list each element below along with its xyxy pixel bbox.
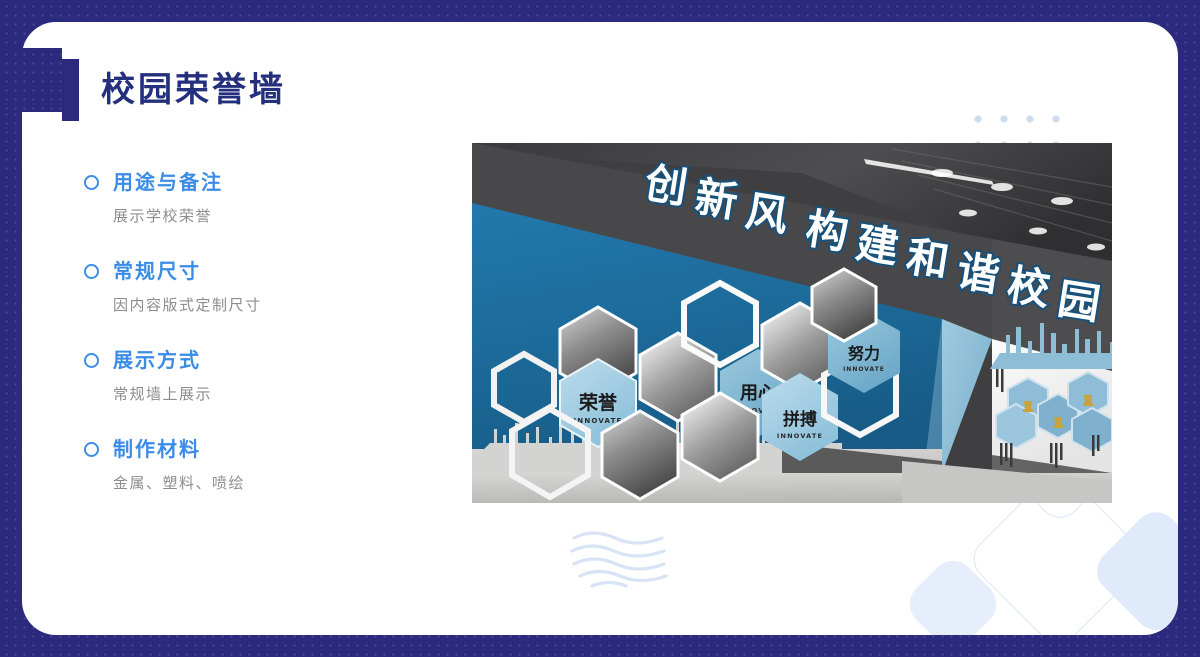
diamond-filled-small <box>901 552 1006 635</box>
diamond-filled-large <box>1088 503 1178 635</box>
svg-text:和: 和 <box>903 232 952 287</box>
slide-root: 校园荣誉墙 用途与备注 展示学校荣誉 常规尺寸 因内容版式定制尺寸 <box>0 0 1200 657</box>
svg-text:INNOVATE: INNOVATE <box>843 366 885 373</box>
hollow-circle-icon <box>84 353 99 368</box>
feature-header: 常规尺寸 <box>84 261 444 281</box>
wave-lines-decoration <box>568 530 674 592</box>
list-item[interactable]: 展示方式 常规墙上展示 <box>84 350 444 402</box>
feature-header: 用途与备注 <box>84 172 444 192</box>
feature-value: 金属、塑料、喷绘 <box>113 476 444 491</box>
svg-text:新: 新 <box>692 172 741 227</box>
feature-label: 展示方式 <box>113 350 201 370</box>
hollow-circle-icon <box>84 175 99 190</box>
svg-text:INNOVATE: INNOVATE <box>777 432 823 440</box>
title-frame-notch <box>0 48 62 112</box>
svg-text:构: 构 <box>802 204 851 259</box>
feature-list: 用途与备注 展示学校荣誉 常规尺寸 因内容版式定制尺寸 展示方式 常规墙上展示 <box>84 172 444 491</box>
feature-header: 展示方式 <box>84 350 444 370</box>
title-accent-bar <box>62 59 79 121</box>
svg-text:荣誉: 荣誉 <box>578 391 618 414</box>
svg-text:园: 园 <box>1054 274 1103 329</box>
svg-text:创: 创 <box>642 158 691 213</box>
svg-text:风: 风 <box>742 186 791 241</box>
list-item[interactable]: 制作材料 金属、塑料、喷绘 <box>84 439 444 491</box>
feature-label: 制作材料 <box>113 439 201 459</box>
svg-text:拼搏: 拼搏 <box>783 409 817 430</box>
page-title: 校园荣誉墙 <box>62 58 286 122</box>
content-card: 校园荣誉墙 用途与备注 展示学校荣誉 常规尺寸 因内容版式定制尺寸 <box>22 22 1178 635</box>
svg-text:建: 建 <box>853 218 902 273</box>
feature-value: 因内容版式定制尺寸 <box>113 298 444 313</box>
feature-label: 常规尺寸 <box>113 261 201 281</box>
feature-value: 常规墙上展示 <box>113 387 444 402</box>
list-item[interactable]: 用途与备注 展示学校荣誉 <box>84 172 444 224</box>
feature-header: 制作材料 <box>84 439 444 459</box>
product-photo[interactable]: 创 新 风 构 建 和 谐 校 园 <box>472 143 1112 503</box>
title-text: 校园荣誉墙 <box>101 73 286 107</box>
feature-label: 用途与备注 <box>113 172 223 192</box>
svg-text:校: 校 <box>1004 260 1053 315</box>
hollow-circle-icon <box>84 442 99 457</box>
feature-value: 展示学校荣誉 <box>113 209 444 224</box>
svg-text:谐: 谐 <box>954 246 1003 301</box>
list-item[interactable]: 常规尺寸 因内容版式定制尺寸 <box>84 261 444 313</box>
svg-text:努力: 努力 <box>848 344 880 363</box>
hollow-circle-icon <box>84 264 99 279</box>
